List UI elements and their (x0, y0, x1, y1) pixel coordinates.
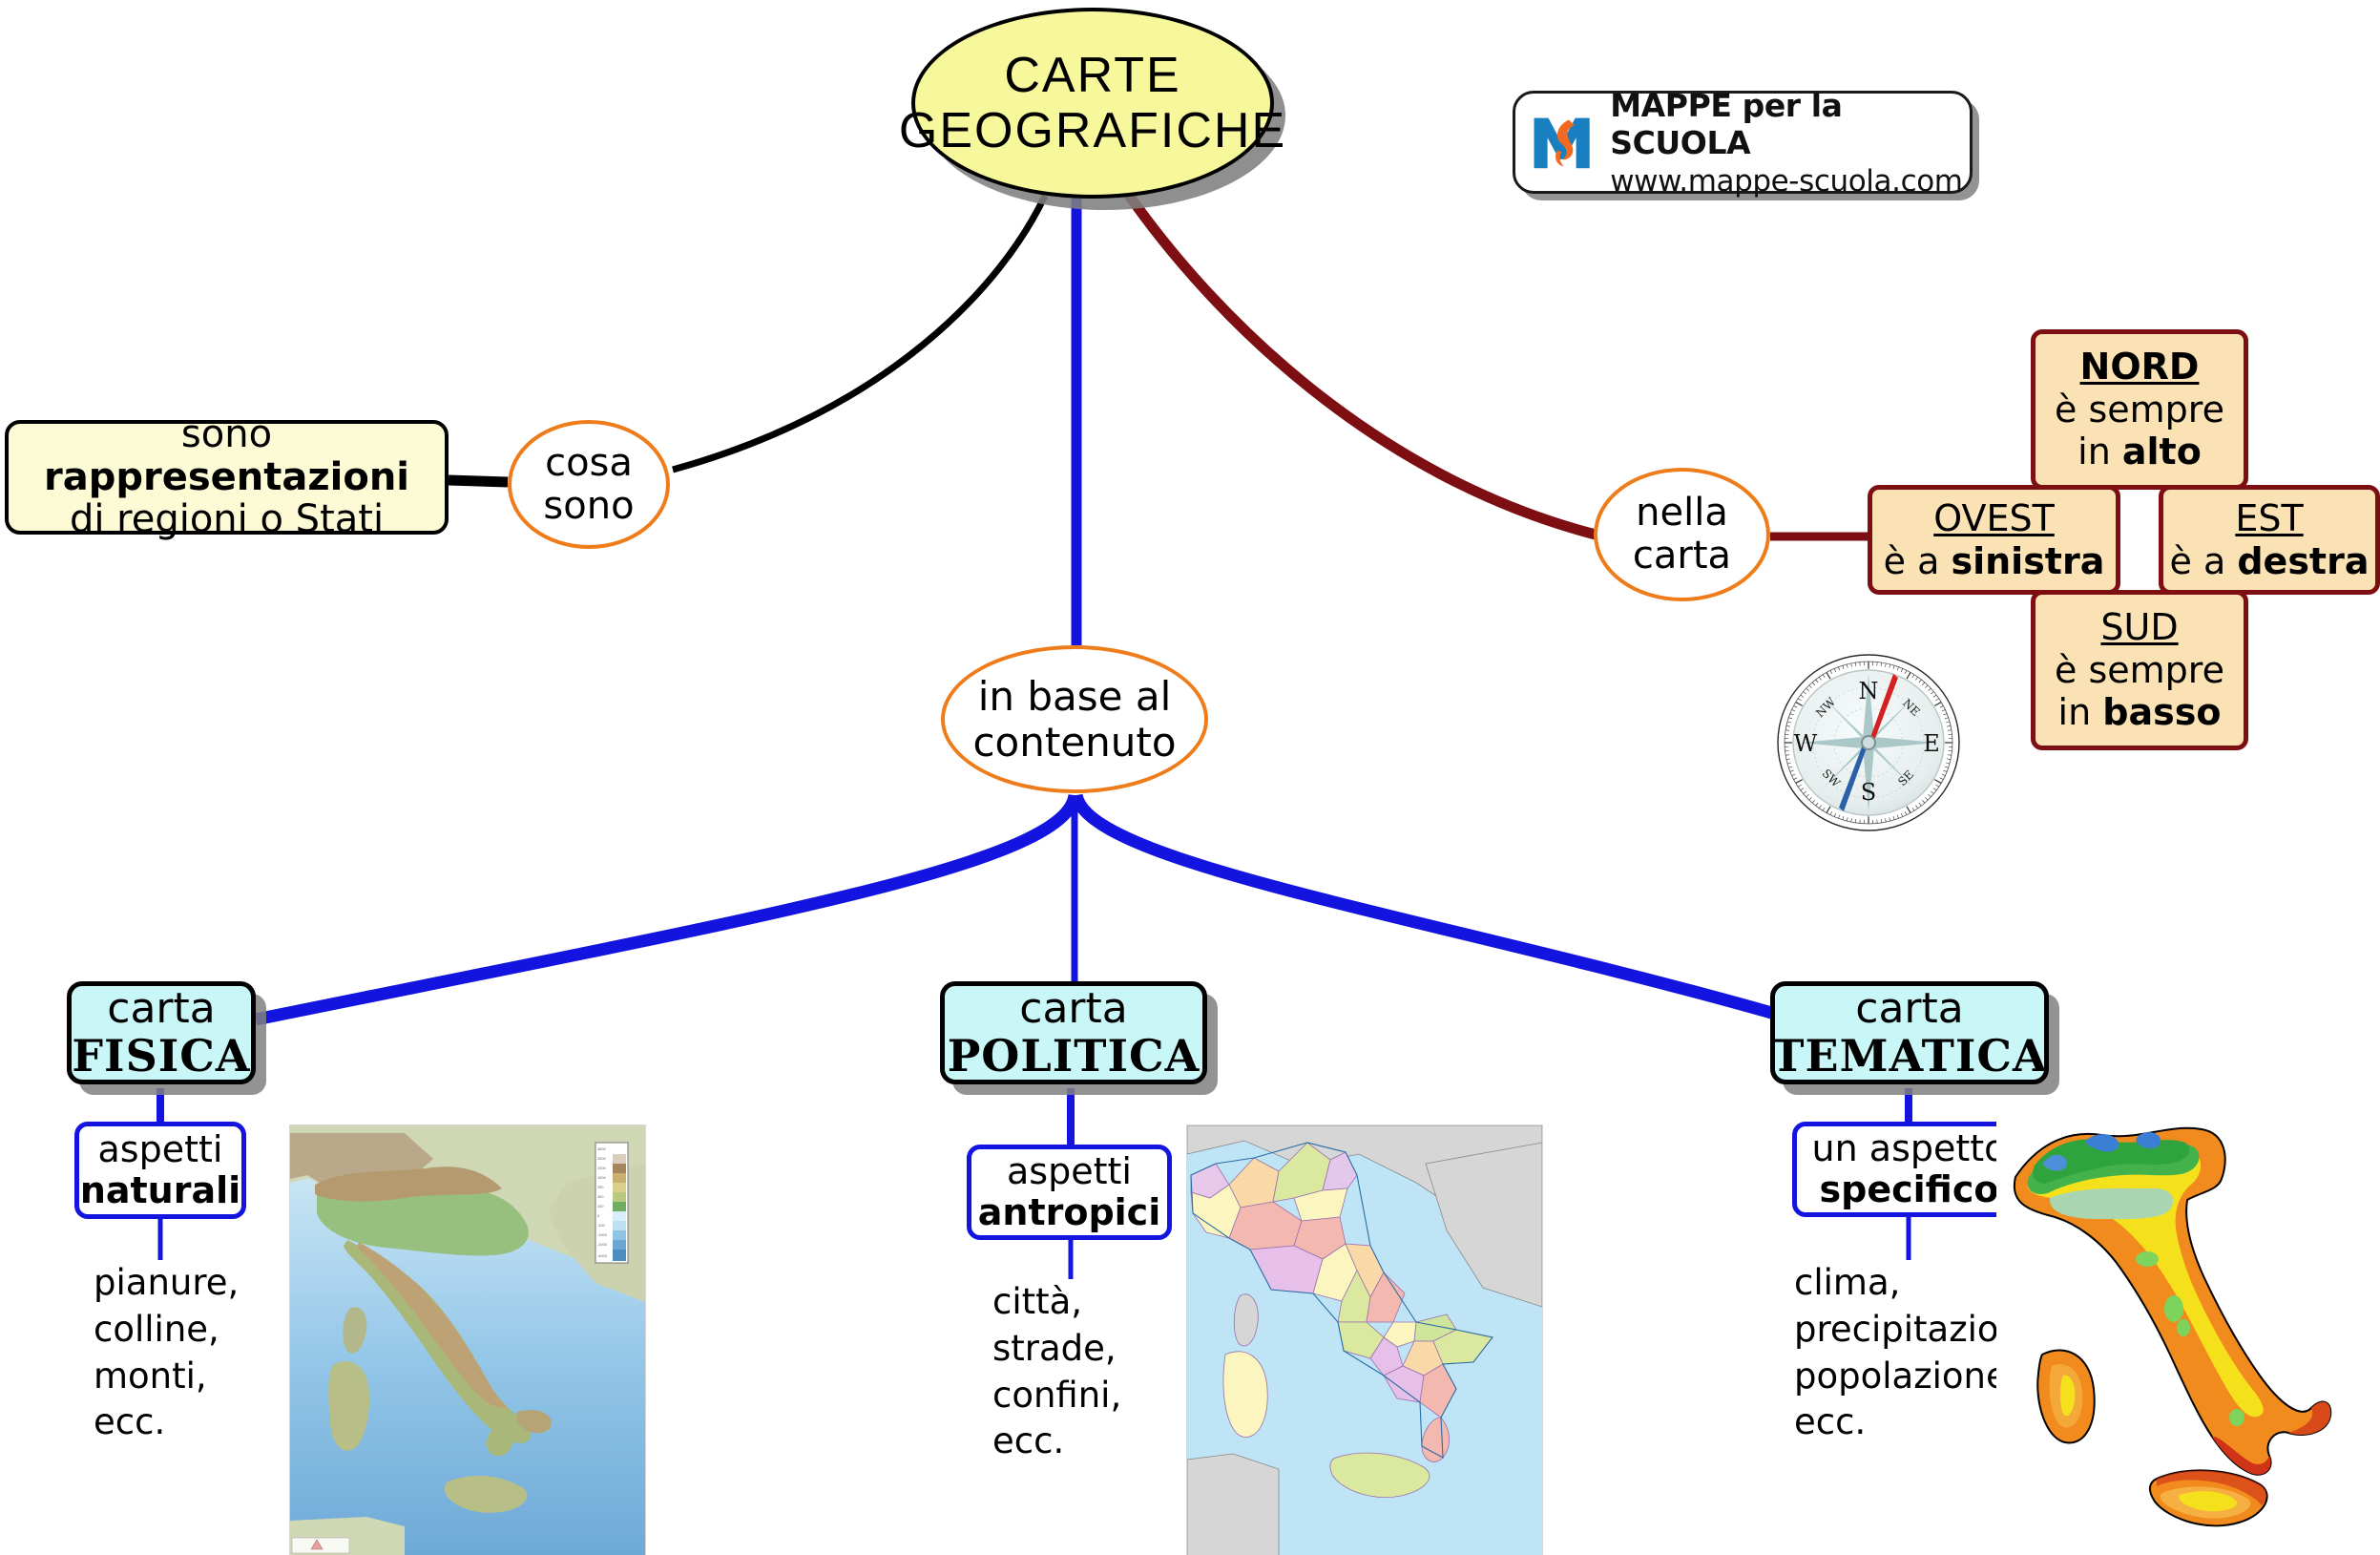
definition-line-2: di regioni o Stati (70, 498, 384, 541)
definition-box-rappresentazioni[interactable]: sono rappresentazioni di regioni o Stati (5, 420, 449, 535)
svg-text:-2000: -2000 (597, 1243, 607, 1247)
orientation-ovest-line-1: è a sinistra (1884, 540, 2105, 583)
compass-label-south: S (1861, 779, 1876, 806)
compass-label-north: N (1859, 678, 1879, 704)
category-politica-kind: POLITICA (948, 1032, 1200, 1082)
orientation-ovest-line-1-bold: sinistra (1951, 540, 2104, 582)
nella-carta-line-2: carta (1633, 535, 1731, 578)
examples-list-politica: città, strade, confini, ecc. (992, 1279, 1121, 1465)
compass-pivot (1862, 736, 1875, 749)
map-thumbnail-political-italy (1186, 1124, 1543, 1555)
nella-carta-line-1: nella (1636, 492, 1728, 535)
svg-text:-1000: -1000 (597, 1233, 607, 1237)
orientation-box-nord[interactable]: NORD è sempre in alto (2031, 329, 2248, 490)
orientation-box-ovest[interactable]: OVEST è a sinistra (1868, 485, 2120, 595)
aspect-box-naturali[interactable]: aspetti naturali (74, 1122, 246, 1219)
edge-root-to-cosa-sono (673, 196, 1045, 470)
compass-label-east: E (1923, 730, 1940, 757)
root-node-carte-geografiche[interactable]: CARTE GEOGRAFICHE (911, 8, 1274, 199)
orientation-sud-line-2-bold: basso (2102, 691, 2221, 733)
orientation-box-sud[interactable]: SUD è sempre in basso (2031, 590, 2248, 750)
aspect-antropici-prefix: aspetti (1007, 1151, 1132, 1192)
svg-text:-4000: -4000 (597, 1254, 607, 1258)
in-base-line-2: contenuto (972, 720, 1176, 765)
definition-line-1: sono rappresentazioni (9, 413, 445, 499)
root-line-2: GEOGRAFICHE (899, 103, 1286, 158)
logo-text-block: MAPPE per la SCUOLA www.mappe-scuola.com (1610, 87, 1970, 199)
svg-text:700: 700 (597, 1186, 603, 1189)
category-box-carta-politica[interactable]: carta POLITICA (940, 981, 1207, 1084)
compass-label-west: W (1794, 730, 1818, 757)
logo-url: www.mappe-scuola.com (1610, 164, 1970, 199)
orientation-nord-line-2: in alto (2077, 431, 2202, 473)
logo-title: MAPPE per la SCUOLA (1610, 87, 1970, 161)
category-politica-prefix: carta (1019, 985, 1127, 1032)
orientation-ovest-line-1-plain: è a (1884, 540, 1952, 582)
svg-text:-200: -200 (597, 1224, 605, 1228)
svg-text:1500: 1500 (597, 1166, 606, 1170)
orientation-sud-line-2: in basso (2058, 691, 2222, 734)
cosa-sono-line-1: cosa (545, 442, 633, 485)
compass-rose-icon: N E S W NE SE SW NW (1773, 647, 1964, 838)
aspect-specifico-kind: specifico (1820, 1169, 1999, 1210)
orientation-sud-line-1: è sempre (2055, 649, 2224, 692)
orientation-est-line-1: è a destra (2170, 540, 2370, 583)
orientation-ovest-head: OVEST (1933, 497, 2055, 540)
edge-cosa-sono-to-definition (449, 480, 508, 482)
concept-map-canvas: CARTE GEOGRAFICHE MAPPE per la SCUOLA ww… (0, 0, 2380, 1555)
orientation-box-est[interactable]: EST è a destra (2159, 485, 2380, 595)
link-ellipse-cosa-sono[interactable]: cosa sono (508, 420, 670, 549)
orientation-sud-head: SUD (2100, 606, 2178, 649)
svg-text:300: 300 (597, 1195, 603, 1199)
link-ellipse-in-base-al-contenuto[interactable]: in base al contenuto (941, 645, 1208, 793)
svg-text:2500: 2500 (597, 1157, 606, 1161)
in-base-line-1: in base al (978, 674, 1172, 719)
cosa-sono-line-2: sono (543, 485, 634, 528)
examples-list-fisica: pianure, colline, monti, ecc. (94, 1260, 239, 1446)
aspect-naturali-kind: naturali (80, 1170, 240, 1211)
root-line-1: CARTE (1004, 48, 1180, 103)
aspect-box-antropici[interactable]: aspetti antropici (967, 1145, 1172, 1240)
category-tematica-prefix: carta (1855, 985, 1963, 1032)
orientation-est-line-1-bold: destra (2237, 540, 2369, 582)
svg-text:0: 0 (597, 1214, 599, 1218)
definition-line-1-plain: sono (181, 412, 272, 456)
map-thumbnail-physical-italy: 40002500 15001000 700300 1000 -200-1000 … (289, 1124, 646, 1555)
svg-text:100: 100 (597, 1205, 603, 1208)
orientation-nord-line-2-plain: in (2077, 431, 2122, 473)
category-box-carta-fisica[interactable]: carta FISICA (67, 981, 256, 1084)
category-fisica-prefix: carta (107, 985, 215, 1032)
edge-root-to-nella-carta (1126, 191, 1596, 535)
orientation-sud-line-2-plain: in (2058, 691, 2103, 733)
orientation-est-head: EST (2235, 497, 2303, 540)
map-thumbnail-thematic-italy (1996, 1110, 2378, 1555)
aspect-naturali-prefix: aspetti (98, 1129, 223, 1170)
link-ellipse-nella-carta[interactable]: nella carta (1594, 468, 1770, 601)
aspect-specifico-prefix: un aspetto (1812, 1128, 2007, 1169)
category-fisica-kind: FISICA (72, 1032, 250, 1082)
logo-mark-icon (1527, 105, 1597, 179)
orientation-nord-line-2-bold: alto (2122, 431, 2202, 473)
svg-text:4000: 4000 (597, 1147, 606, 1151)
svg-text:1000: 1000 (597, 1176, 606, 1180)
category-box-carta-tematica[interactable]: carta TEMATICA (1770, 981, 2049, 1084)
logo-badge-mappe-per-la-scuola[interactable]: MAPPE per la SCUOLA www.mappe-scuola.com (1513, 91, 1973, 194)
category-tematica-kind: TEMATICA (1771, 1032, 2047, 1082)
aspect-box-specifico[interactable]: un aspetto specifico (1792, 1122, 2026, 1217)
orientation-nord-line-1: è sempre (2055, 389, 2224, 431)
orientation-est-line-1-plain: è a (2170, 540, 2238, 582)
aspect-antropici-kind: antropici (978, 1192, 1160, 1233)
definition-line-1-bold: rappresentazioni (44, 455, 409, 499)
orientation-nord-head: NORD (2080, 346, 2200, 389)
